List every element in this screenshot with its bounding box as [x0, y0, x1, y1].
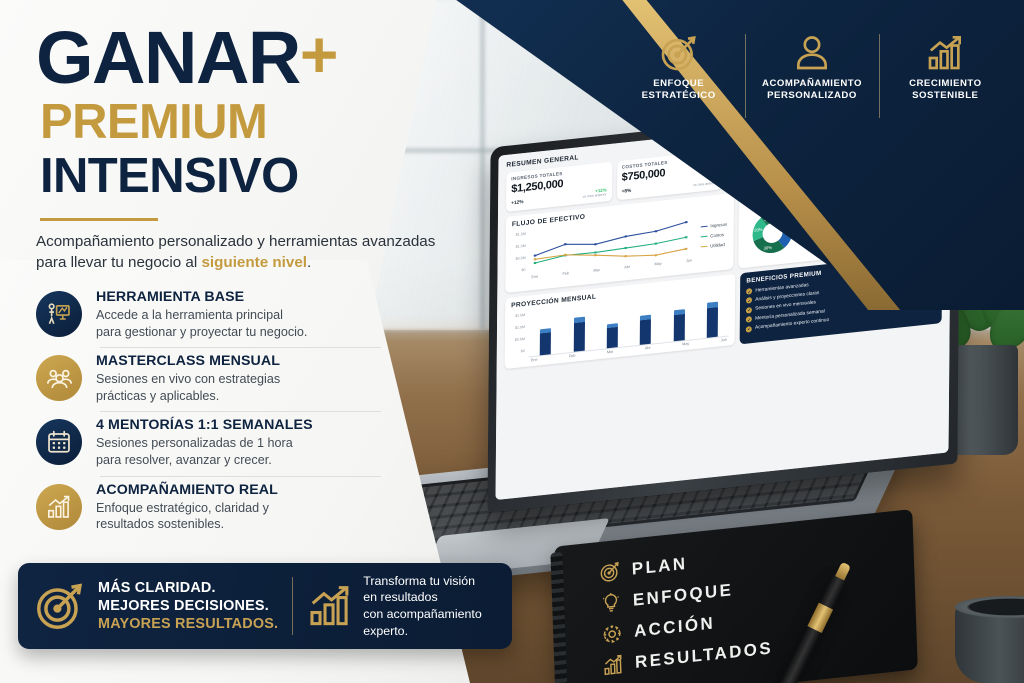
x-tick: Ene	[531, 275, 538, 280]
kpi-delta: +12%	[511, 200, 523, 206]
poster-canvas: RESUMEN GENERAL INGRESOS TOTALES $1,250,…	[0, 0, 1024, 683]
target-icon	[659, 33, 699, 73]
y-tick: $0	[511, 268, 525, 273]
banner-note: Transforma tu visión en resultados con a…	[363, 573, 481, 640]
feature-icon-wrap	[36, 355, 82, 401]
banner-claim-line1: MÁS CLARIDAD.	[98, 579, 278, 597]
window-mullion	[480, 0, 485, 330]
person-icon	[792, 33, 832, 73]
badge-label-line1: ENFOQUE	[616, 78, 741, 90]
notebook-label: ENFOQUE	[633, 580, 734, 611]
bar	[573, 317, 584, 352]
badge-enfoque-estrategico: ENFOQUE ESTRATÉGICO	[612, 28, 745, 102]
banner-divider	[292, 577, 293, 635]
y-tick: $0.5M	[511, 337, 525, 342]
gear-icon	[601, 622, 624, 646]
badge-label-line1: CRECIMIENTO	[883, 78, 1008, 90]
calendar-icon	[46, 429, 72, 455]
projection-y-axis: $1.5M $1.0M $0.5M $0	[511, 312, 525, 365]
feature-desc: Enfoque estratégico, claridad y resultad…	[96, 500, 278, 533]
y-tick: $0	[511, 349, 525, 354]
x-tick: Jun	[686, 258, 692, 263]
lede-paragraph: Acompañamiento personalizado y herramien…	[36, 232, 436, 274]
feature-title: HERRAMIENTA BASE	[96, 289, 307, 305]
bar	[540, 328, 551, 356]
badge-label-line2: PERSONALIZADO	[749, 90, 874, 102]
bar	[707, 302, 718, 338]
feature-desc-line1: Sesiones personalizadas de 1 hora	[96, 436, 293, 450]
feature-item-herramienta-base[interactable]: HERRAMIENTA BASE Accede a la herramienta…	[36, 283, 381, 347]
x-tick: Mar	[607, 350, 614, 355]
feature-icon-wrap	[36, 291, 82, 337]
y-tick: $0.5M	[512, 256, 526, 261]
feature-item-mentorias-semanales[interactable]: 4 MENTORÍAS 1:1 SEMANALES Sesiones perso…	[36, 411, 381, 475]
value-badges: ENFOQUE ESTRATÉGICO ACOMPAÑAMIENTO PERSO…	[612, 28, 1012, 138]
feature-desc-line2: para resolver, avanzar y crecer.	[96, 453, 272, 467]
bar	[640, 315, 651, 345]
x-tick: Abr	[624, 265, 630, 270]
badge-divider	[879, 34, 880, 118]
badge-acompanamiento-personalizado: ACOMPAÑAMIENTO PERSONALIZADO	[745, 28, 878, 102]
growth-chart-icon	[46, 494, 72, 520]
banner-note-line3: con acompañamiento	[363, 607, 481, 621]
banner-claim-line2: MEJORES DECISIONES.	[98, 597, 278, 615]
x-tick: Jun	[721, 338, 727, 343]
feature-desc-line2: resultados sostenibles.	[96, 517, 224, 531]
banner-claim-line3: MAYORES RESULTADOS.	[98, 615, 278, 633]
feature-list: HERRAMIENTA BASE Accede a la herramienta…	[36, 283, 381, 540]
x-tick: Ene	[531, 358, 538, 363]
legend-item: Utilidad	[700, 242, 727, 250]
x-tick: Abr	[645, 346, 651, 351]
bottom-cta-banner[interactable]: MÁS CLARIDAD. MEJORES DECISIONES. MAYORE…	[18, 563, 512, 649]
cashflow-legend: Ingresos Costos Utilidad	[698, 210, 727, 262]
badge-icon-wrap	[749, 28, 874, 78]
badge-icon-wrap	[616, 28, 741, 78]
bar-growth-icon	[602, 653, 625, 677]
bar	[607, 323, 618, 348]
feature-item-masterclass-mensual[interactable]: MASTERCLASS MENSUAL Sesiones en vivo con…	[36, 347, 381, 411]
check-icon: ✓	[746, 326, 752, 333]
growth-chart-icon	[925, 33, 965, 73]
x-tick: May	[682, 342, 689, 347]
title-plus: +	[300, 17, 337, 91]
x-tick: May	[654, 262, 661, 267]
notebook-label: ACCIÓN	[634, 613, 716, 642]
x-tick: Mar	[593, 268, 600, 273]
badge-label-line1: ACOMPAÑAMIENTO	[749, 78, 874, 90]
feature-desc: Sesiones personalizadas de 1 hora para r…	[96, 435, 313, 468]
feature-icon-wrap	[36, 419, 82, 465]
badge-icon-wrap	[883, 28, 1008, 78]
check-icon: ✓	[746, 316, 752, 323]
check-icon: ✓	[746, 297, 752, 304]
feature-desc: Sesiones en vivo con estrategias práctic…	[96, 371, 280, 404]
feature-desc: Accede a la herramienta principal para g…	[96, 307, 307, 340]
banner-note-line2: en resultados	[363, 590, 437, 604]
title-underline-rule	[40, 218, 158, 221]
banner-claim: MÁS CLARIDAD. MEJORES DECISIONES. MAYORE…	[98, 579, 278, 633]
lightbulb-icon	[600, 591, 623, 615]
banner-note-line1: Transforma tu visión	[363, 574, 475, 588]
page-title-line3: INTENSIVO	[40, 152, 299, 201]
feature-title: MASTERCLASS MENSUAL	[96, 353, 280, 369]
people-group-icon	[46, 365, 73, 392]
page-title-line1: GANAR+	[36, 24, 337, 92]
title-ganar: GANAR	[36, 16, 300, 99]
feature-title: 4 MENTORÍAS 1:1 SEMANALES	[96, 417, 313, 433]
growth-chart-icon	[307, 583, 353, 629]
page-title-line2: PREMIUM	[40, 98, 267, 147]
feature-desc-line1: Enfoque estratégico, claridad y	[96, 501, 269, 515]
badge-label-line2: ESTRATÉGICO	[616, 90, 741, 102]
legend-item: Ingresos	[700, 222, 727, 230]
notebook-label: RESULTADOS	[635, 638, 774, 673]
feature-title: ACOMPAÑAMIENTO REAL	[96, 482, 278, 498]
y-tick: $1.5M	[512, 232, 526, 237]
notebook-label: PLAN	[632, 554, 688, 580]
svg-text:30%: 30%	[763, 245, 772, 251]
cashflow-y-axis: $1.5M $1.0M $0.5M $0	[511, 231, 525, 282]
y-tick: $1.0M	[511, 325, 525, 330]
badge-label-line2: SOSTENIBLE	[883, 90, 1008, 102]
x-tick: Feb	[562, 271, 569, 276]
y-tick: $1.0M	[512, 244, 526, 249]
legend-item: Costos	[700, 232, 727, 240]
target-icon	[34, 580, 86, 632]
feature-icon-wrap	[36, 484, 82, 530]
badge-divider	[745, 34, 746, 118]
banner-note-line4: experto.	[363, 624, 408, 638]
target-icon	[599, 560, 622, 584]
kpi-delta: +8%	[622, 189, 632, 195]
svg-text:20%: 20%	[754, 227, 763, 233]
y-tick: $1.5M	[511, 313, 525, 318]
feature-item-acompanamiento-real[interactable]: ACOMPAÑAMIENTO REAL Enfoque estratégico,…	[36, 476, 381, 540]
badge-crecimiento-sostenible: CRECIMIENTO SOSTENIBLE	[879, 28, 1012, 102]
x-tick: Feb	[569, 354, 576, 359]
feature-desc-line1: Sesiones en vivo con estrategias	[96, 372, 280, 386]
kpi-card-ingresos-totales[interactable]: INGRESOS TOTALES $1,250,000 +12% +12% vs…	[506, 162, 612, 212]
lede-part2: .	[307, 254, 311, 271]
lede-highlight: siguiente nivel	[201, 254, 307, 271]
check-icon: ✓	[746, 288, 752, 295]
feature-desc-line1: Accede a la herramienta principal	[96, 308, 283, 322]
feature-desc-line2: prácticas y aplicables.	[96, 389, 219, 403]
feature-desc-line2: para gestionar y proyectar tu negocio.	[96, 325, 307, 339]
presenter-screen-icon	[46, 301, 72, 327]
check-icon: ✓	[746, 307, 752, 314]
bar	[673, 309, 684, 341]
